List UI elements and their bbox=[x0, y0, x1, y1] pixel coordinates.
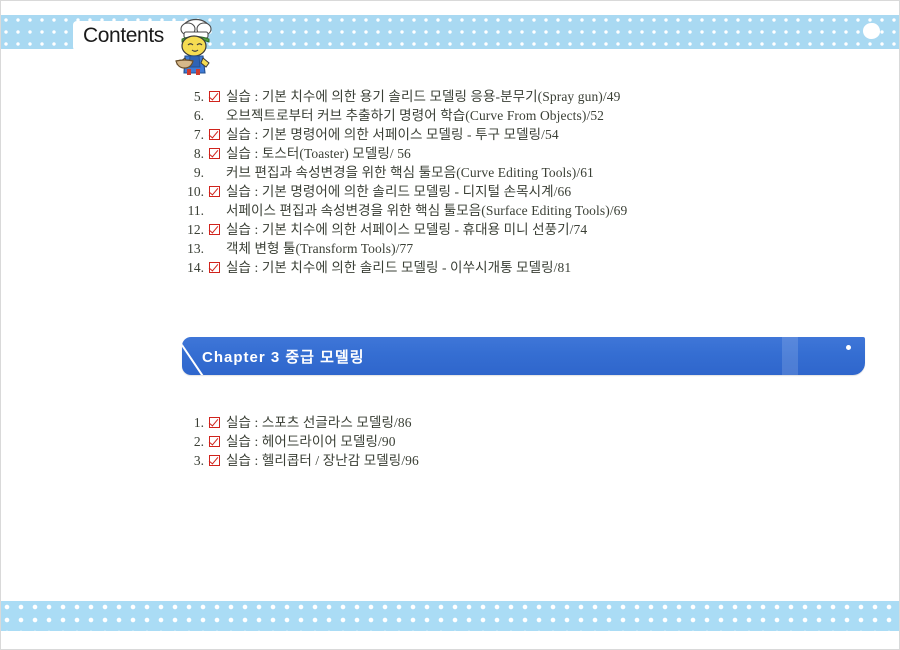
list-item-label: 오브젝트로부터 커브 추출하기 명령어 학습(Curve From Object… bbox=[226, 106, 604, 125]
checkbox-checked-icon bbox=[209, 186, 220, 197]
list-item-label: 실습 : 기본 명령어에 의한 서페이스 모델링 - 투구 모델링/54 bbox=[226, 125, 559, 144]
checkbox-checked-icon bbox=[209, 224, 220, 235]
checkbox-placeholder-icon bbox=[209, 110, 220, 121]
list-item[interactable]: 3. 실습 : 헬리콥터 / 장난감 모델링/96 bbox=[187, 451, 827, 470]
checkbox-checked-icon bbox=[209, 455, 220, 466]
contents-page: Contents bbox=[0, 0, 900, 650]
list-item-number: 11. bbox=[187, 201, 204, 220]
list-item[interactable]: 11. 서페이스 편집과 속성변경을 위한 핵심 툴모음(Surface Edi… bbox=[187, 201, 827, 220]
page-title: Contents bbox=[83, 22, 164, 50]
list-item-label: 실습 : 기본 명령어에 의한 솔리드 모델링 - 디지털 손목시계/66 bbox=[226, 182, 571, 201]
checkbox-placeholder-icon bbox=[209, 167, 220, 178]
list-item[interactable]: 6. 오브젝트로부터 커브 추출하기 명령어 학습(Curve From Obj… bbox=[187, 106, 827, 125]
list-item-number: 5. bbox=[187, 87, 204, 106]
banner-sheen bbox=[782, 337, 798, 375]
checkbox-placeholder-icon bbox=[209, 243, 220, 254]
list-item-label: 실습 : 기본 치수에 의한 서페이스 모델링 - 휴대용 미니 선풍기/74 bbox=[226, 220, 587, 239]
white-blob-icon bbox=[863, 23, 880, 39]
checkbox-placeholder-icon bbox=[209, 205, 220, 216]
list-item[interactable]: 1. 실습 : 스포츠 선글라스 모델링/86 bbox=[187, 413, 827, 432]
list-item-number: 3. bbox=[187, 451, 204, 470]
footer-decorative-band bbox=[1, 601, 900, 631]
list-item[interactable]: 5. 실습 : 기본 치수에 의한 용기 솔리드 모델링 응용-분무기(Spra… bbox=[187, 87, 827, 106]
list-item-label: 실습 : 헬리콥터 / 장난감 모델링/96 bbox=[226, 451, 419, 470]
list-item[interactable]: 13. 객체 변형 툴(Transform Tools)/77 bbox=[187, 239, 827, 258]
list-item[interactable]: 7. 실습 : 기본 명령어에 의한 서페이스 모델링 - 투구 모델링/54 bbox=[187, 125, 827, 144]
list-item[interactable]: 9. 커브 편집과 속성변경을 위한 핵심 툴모음(Curve Editing … bbox=[187, 163, 827, 182]
checkbox-checked-icon bbox=[209, 436, 220, 447]
list-item-number: 6. bbox=[187, 106, 204, 125]
chapter-title: Chapter 3 중급 모델링 bbox=[202, 346, 365, 367]
list-item-label: 객체 변형 툴(Transform Tools)/77 bbox=[226, 239, 413, 258]
chapter-banner[interactable]: Chapter 3 중급 모델링 bbox=[182, 337, 865, 375]
list-item[interactable]: 12. 실습 : 기본 치수에 의한 서페이스 모델링 - 휴대용 미니 선풍기… bbox=[187, 220, 827, 239]
list-item-number: 13. bbox=[187, 239, 204, 258]
list-item[interactable]: 8. 실습 : 토스터(Toaster) 모델링/ 56 bbox=[187, 144, 827, 163]
toc-list-upper: 5. 실습 : 기본 치수에 의한 용기 솔리드 모델링 응용-분무기(Spra… bbox=[187, 87, 827, 277]
list-item-label: 실습 : 기본 치수에 의한 솔리드 모델링 - 이쑤시개통 모델링/81 bbox=[226, 258, 571, 277]
toc-list-lower: 1. 실습 : 스포츠 선글라스 모델링/86 2. 실습 : 헤어드라이어 모… bbox=[187, 413, 827, 470]
list-item[interactable]: 14. 실습 : 기본 치수에 의한 솔리드 모델링 - 이쑤시개통 모델링/8… bbox=[187, 258, 827, 277]
list-item[interactable]: 10. 실습 : 기본 명령어에 의한 솔리드 모델링 - 디지털 손목시계/6… bbox=[187, 182, 827, 201]
list-item-label: 실습 : 토스터(Toaster) 모델링/ 56 bbox=[226, 144, 411, 163]
list-item-label: 실습 : 스포츠 선글라스 모델링/86 bbox=[226, 413, 412, 432]
list-item-label: 실습 : 기본 치수에 의한 용기 솔리드 모델링 응용-분무기(Spray g… bbox=[226, 87, 620, 106]
list-item-number: 7. bbox=[187, 125, 204, 144]
checkbox-checked-icon bbox=[209, 262, 220, 273]
checkbox-checked-icon bbox=[209, 91, 220, 102]
banner-dot-icon bbox=[846, 345, 851, 350]
list-item-number: 8. bbox=[187, 144, 204, 163]
list-item-label: 커브 편집과 속성변경을 위한 핵심 툴모음(Curve Editing Too… bbox=[226, 163, 594, 182]
list-item[interactable]: 2. 실습 : 헤어드라이어 모델링/90 bbox=[187, 432, 827, 451]
checkbox-checked-icon bbox=[209, 129, 220, 140]
list-item-number: 14. bbox=[187, 258, 204, 277]
chef-character-icon bbox=[169, 17, 217, 75]
list-item-number: 12. bbox=[187, 220, 204, 239]
checkbox-checked-icon bbox=[209, 148, 220, 159]
list-item-number: 10. bbox=[187, 182, 204, 201]
list-item-number: 1. bbox=[187, 413, 204, 432]
list-item-number: 2. bbox=[187, 432, 204, 451]
list-item-number: 9. bbox=[187, 163, 204, 182]
list-item-label: 실습 : 헤어드라이어 모델링/90 bbox=[226, 432, 396, 451]
list-item-label: 서페이스 편집과 속성변경을 위한 핵심 툴모음(Surface Editing… bbox=[226, 201, 627, 220]
checkbox-checked-icon bbox=[209, 417, 220, 428]
